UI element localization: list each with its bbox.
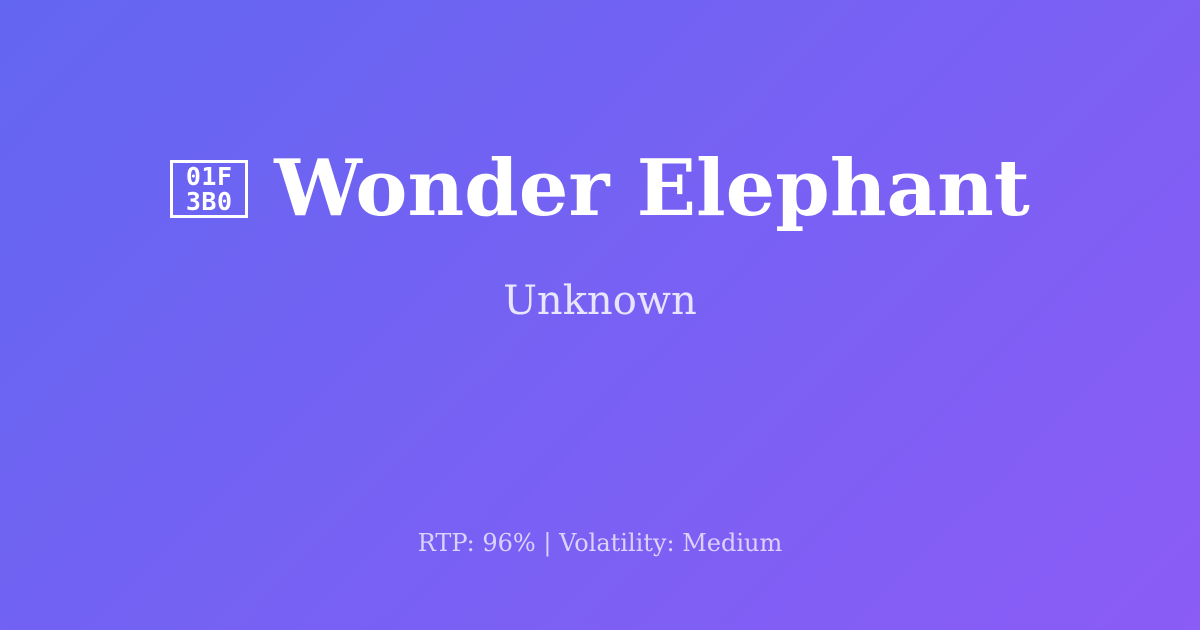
page-title: Wonder Elephant	[274, 146, 1030, 232]
title-row: 01F 3B0 Wonder Elephant	[170, 146, 1030, 232]
game-stats-meta: RTP: 96% | Volatility: Medium	[418, 528, 783, 558]
card-hero: 01F 3B0 Wonder Elephant Unknown	[0, 0, 1200, 470]
tofu-codepoint-high: 01F	[186, 164, 233, 189]
game-preview-card: 01F 3B0 Wonder Elephant Unknown RTP: 96%…	[0, 0, 1200, 630]
slot-machine-icon: 01F 3B0	[170, 160, 248, 218]
card-subtitle: Unknown	[503, 278, 697, 324]
card-footer: RTP: 96% | Volatility: Medium	[0, 528, 1200, 558]
tofu-codepoint-low: 3B0	[186, 189, 233, 214]
